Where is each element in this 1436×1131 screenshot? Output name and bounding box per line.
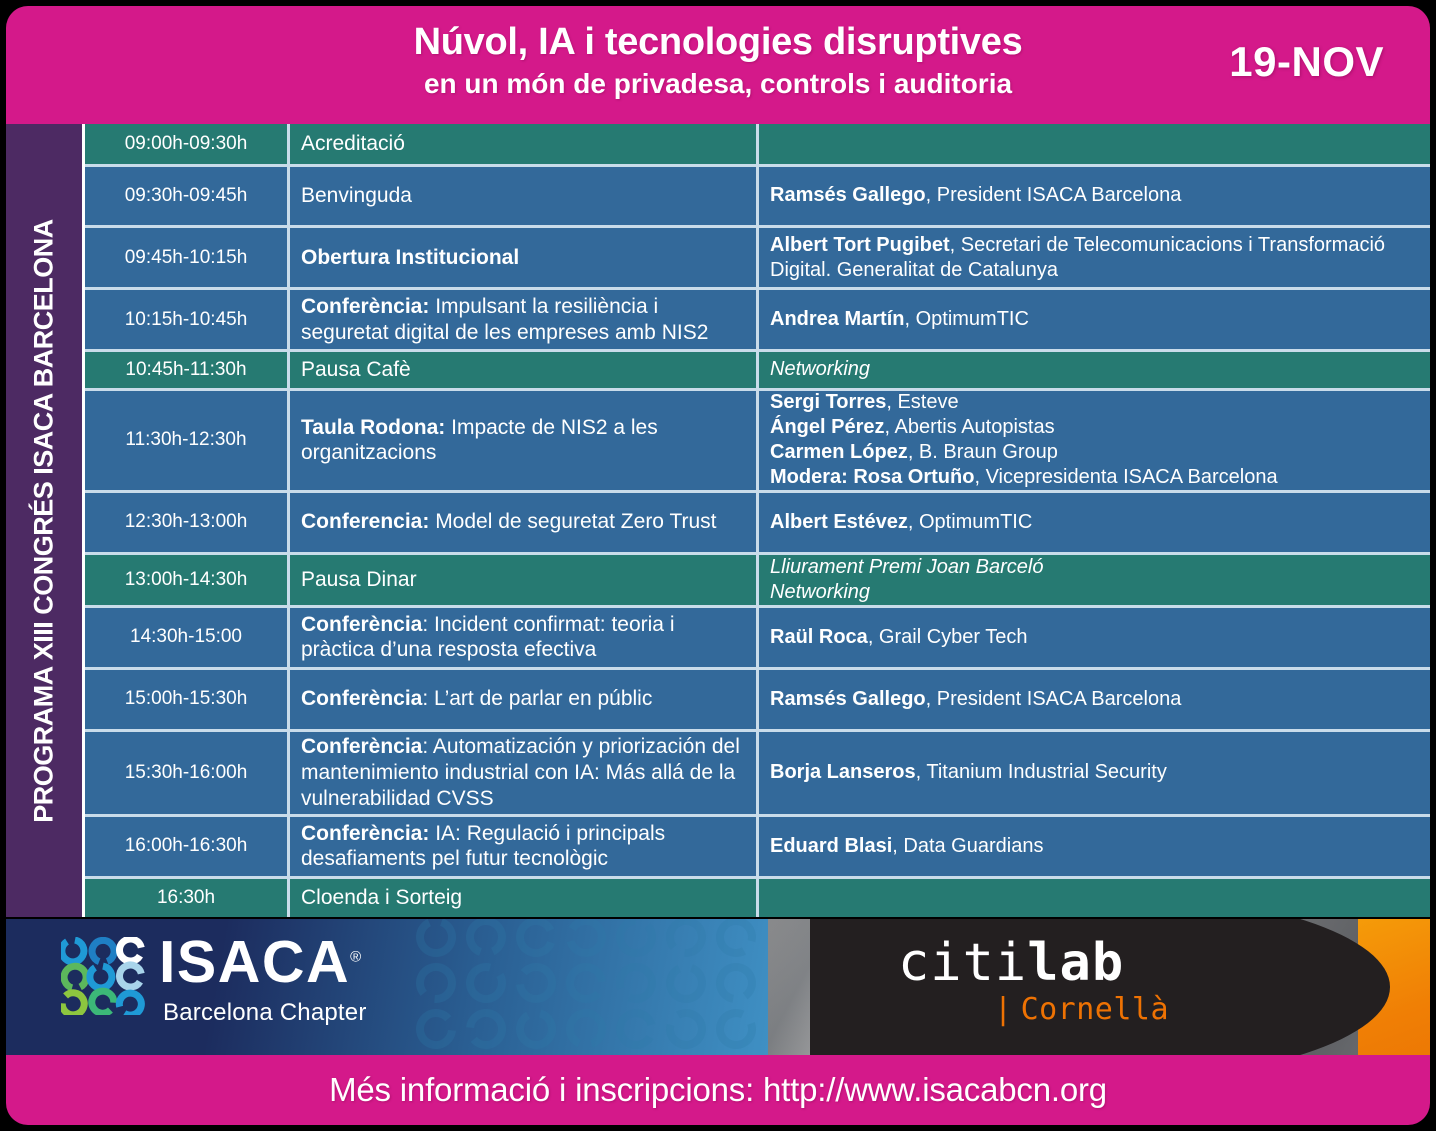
schedule-time-cell: 09:00h-09:30h [85,124,290,164]
speaker-name: Carmen López [770,441,908,463]
schedule-time-cell: 13:00h-14:30h [85,555,290,605]
citilab-city-line: |Cornellà [994,995,1169,1025]
speaker-name: Eduard Blasi [770,835,892,857]
speaker-line: Lliurament Premi Joan Barceló [770,555,1043,580]
program-body: PROGRAMA XIII CONGRÉS ISACA BARCELONA 09… [6,124,1430,917]
schedule-topic-prefix: Obertura Institucional [301,246,519,269]
sidebar-vertical-label: PROGRAMA XIII CONGRÉS ISACA BARCELONA [29,219,60,823]
schedule-topic-cell: Obertura Institucional [290,228,759,287]
footer-info-text: Més informació i inscripcions: http://ww… [329,1071,1107,1109]
schedule-topic-cell: Conferència: Impulsant la resiliència i … [290,290,759,349]
schedule-topic-text: Benvinguda [301,183,412,209]
isaca-mark-icon [61,937,145,1015]
schedule-time-cell: 15:00h-15:30h [85,670,290,729]
header-titles: Núvol, IA i tecnologies disruptives en u… [6,22,1430,100]
schedule-topic-text: Conferència: IA: Regulació i principals … [301,821,746,872]
speaker-list: Ramsés Gallego, President ISACA Barcelon… [770,687,1181,712]
schedule-topic-cell: Pausa Dinar [290,555,759,605]
schedule-topic-prefix: Conferència: [301,822,429,845]
speaker-line: Carmen López, B. Braun Group [770,440,1278,465]
speaker-list: Eduard Blasi, Data Guardians [770,834,1043,859]
schedule-speaker-cell [759,124,1430,164]
schedule-time-cell: 11:30h-12:30h [85,391,290,490]
speaker-line: Ramsés Gallego, President ISACA Barcelon… [770,687,1181,712]
citilab-logo-panel: citilab |Cornellà [768,919,1430,1055]
schedule-time-cell: 16:30h [85,879,290,917]
schedule-time-cell: 16:00h-16:30h [85,817,290,876]
schedule-speaker-cell [759,879,1430,917]
speaker-name: Andrea Martín [770,308,904,330]
schedule-row: 10:15h-10:45hConferència: Impulsant la r… [85,290,1430,352]
registered-icon: ® [350,948,361,965]
schedule-topic-cell: Pausa Cafè [290,352,759,387]
schedule-topic-body: Pausa Dinar [301,568,417,591]
speaker-name: Ramsés Gallego [770,184,926,206]
schedule-time-cell: 10:45h-11:30h [85,352,290,387]
speaker-name: Ángel Pérez [770,416,884,438]
schedule-topic-text: Conferència: Impulsant la resiliència i … [301,294,746,345]
schedule-topic-text: Cloenda i Sorteig [301,885,462,911]
speaker-line: Borja Lanseros, Titanium Industrial Secu… [770,760,1167,785]
isaca-text-block: ISACA® Barcelona Chapter [159,933,367,1027]
speaker-name: Albert Estévez [770,511,908,533]
schedule-topic-prefix: Conferencia: [301,510,429,533]
schedule-speaker-cell: Ramsés Gallego, President ISACA Barcelon… [759,670,1430,729]
speaker-note: Lliurament Premi Joan Barceló [770,556,1043,578]
schedule-topic-cell: Conferència: Incident confirmat: teoria … [290,608,759,667]
speaker-name: Raül Roca [770,626,868,648]
schedule-topic-prefix: Conferència [301,687,422,710]
schedule-time-cell: 12:30h-13:00h [85,493,290,552]
schedule-time-cell: 10:15h-10:45h [85,290,290,349]
schedule-time-cell: 09:30h-09:45h [85,167,290,226]
schedule-row: 15:30h-16:00hConferència: Automatización… [85,732,1430,817]
schedule-time-cell: 14:30h-15:00 [85,608,290,667]
schedule-speaker-cell: Andrea Martín, OptimumTIC [759,290,1430,349]
citilab-logo: citilab |Cornellà [898,937,1169,1025]
schedule-speaker-cell: Ramsés Gallego, President ISACA Barcelon… [759,167,1430,226]
isaca-logo: ISACA® Barcelona Chapter [61,931,367,1027]
schedule-topic-text: Pausa Cafè [301,357,411,383]
schedule-topic-cell: Benvinguda [290,167,759,226]
speaker-list: Sergi Torres, EsteveÁngel Pérez, Abertis… [770,390,1278,491]
poster-header: Núvol, IA i tecnologies disruptives en u… [6,6,1430,124]
schedule-speaker-cell: Networking [759,352,1430,387]
schedule-topic-prefix: Conferència [301,613,422,636]
page-title: Núvol, IA i tecnologies disruptives [6,22,1430,63]
schedule-topic-text: Conferencia: Model de seguretat Zero Tru… [301,509,717,535]
speaker-name: Modera: Rosa Ortuño [770,466,974,488]
speaker-list: Ramsés Gallego, President ISACA Barcelon… [770,183,1181,208]
schedule-row: 12:30h-13:00hConferencia: Model de segur… [85,493,1430,555]
citilab-wordmark: citilab [898,937,1169,989]
schedule-row: 09:00h-09:30hAcreditació [85,124,1430,167]
speaker-list: Albert Tort Pugibet, Secretari de Teleco… [770,233,1420,283]
speaker-line: Andrea Martín, OptimumTIC [770,307,1029,332]
schedule-speaker-cell: Albert Estévez, OptimumTIC [759,493,1430,552]
schedule-row: 09:30h-09:45hBenvingudaRamsés Gallego, P… [85,167,1430,229]
schedule-topic-body: Pausa Cafè [301,358,411,381]
page-subtitle: en un món de privadesa, controls i audit… [6,67,1430,100]
schedule-topic-body: Model de seguretat Zero Trust [429,510,716,533]
speaker-note: Networking [770,581,870,603]
schedule-topic-body: Benvinguda [301,184,412,207]
speaker-line: Albert Tort Pugibet, Secretari de Teleco… [770,233,1420,283]
poster-footer: Més informació i inscripcions: http://ww… [6,1055,1430,1125]
speaker-line: Networking [770,357,870,382]
speaker-line: Albert Estévez, OptimumTIC [770,510,1032,535]
schedule-topic-text: Obertura Institucional [301,245,519,271]
schedule-row: 10:45h-11:30hPausa CafèNetworking [85,352,1430,390]
schedule-row: 15:00h-15:30hConferència: L’art de parla… [85,670,1430,732]
schedule-topic-prefix: Conferència: [301,295,429,318]
speaker-name: Sergi Torres [770,391,886,413]
schedule-speaker-cell: Sergi Torres, EsteveÁngel Pérez, Abertis… [759,391,1430,490]
schedule-row: 11:30h-12:30hTaula Rodona: Impacte de NI… [85,391,1430,493]
speaker-list: Raül Roca, Grail Cyber Tech [770,625,1028,650]
schedule-topic-text: Conferència: L’art de parlar en públic [301,686,652,712]
speaker-list: Andrea Martín, OptimumTIC [770,307,1029,332]
schedule-topic-body: Acreditació [301,132,405,155]
citilab-word-bold: lab [1027,933,1124,993]
speaker-role: , OptimumTIC [908,511,1032,533]
schedule-topic-cell: Conferència: L’art de parlar en públic [290,670,759,729]
schedule-speaker-cell: Borja Lanseros, Titanium Industrial Secu… [759,732,1430,814]
speaker-line: Eduard Blasi, Data Guardians [770,834,1043,859]
poster-root: Núvol, IA i tecnologies disruptives en u… [0,0,1436,1131]
schedule-topic-prefix: Taula Rodona: [301,416,445,439]
schedule-row: 13:00h-14:30hPausa DinarLliurament Premi… [85,555,1430,608]
citilab-divider-icon: | [994,995,1013,1025]
speaker-line: Sergi Torres, Esteve [770,390,1278,415]
speaker-role: , B. Braun Group [908,441,1058,463]
event-date-badge: 19-NOV [1229,38,1384,86]
schedule-speaker-cell: Raül Roca, Grail Cyber Tech [759,608,1430,667]
schedule-topic-text: Conferència: Incident confirmat: teoria … [301,612,746,663]
speaker-line: Networking [770,580,1043,605]
schedule-row: 16:00h-16:30hConferència: IA: Regulació … [85,817,1430,879]
schedule-topic-cell: Conferència: IA: Regulació i principals … [290,817,759,876]
schedule-speaker-cell: Eduard Blasi, Data Guardians [759,817,1430,876]
speaker-name: Ramsés Gallego [770,688,926,710]
isaca-chapter-label: Barcelona Chapter [163,999,367,1027]
speaker-note: Networking [770,358,870,380]
schedule-speaker-cell: Lliurament Premi Joan BarcelóNetworking [759,555,1430,605]
isaca-wordmark: ISACA® [159,933,367,992]
schedule-topic-text: Taula Rodona: Impacte de NIS2 a les orga… [301,415,746,466]
isaca-wordmark-text: ISACA [159,929,350,995]
schedule-topic-cell: Conferencia: Model de seguretat Zero Tru… [290,493,759,552]
program-sidebar: PROGRAMA XIII CONGRÉS ISACA BARCELONA [6,124,85,917]
schedule-time-cell: 09:45h-10:15h [85,228,290,287]
schedule-row: 09:45h-10:15hObertura InstitucionalAlber… [85,228,1430,290]
speaker-line: Modera: Rosa Ortuño, Vicepresidenta ISAC… [770,465,1278,490]
schedule-topic-body: Cloenda i Sorteig [301,886,462,909]
speaker-role: , Vicepresidenta ISACA Barcelona [974,466,1277,488]
schedule-topic-body: : L’art de parlar en públic [422,687,652,710]
speaker-list: Albert Estévez, OptimumTIC [770,510,1032,535]
speaker-list: Networking [770,357,870,382]
speaker-line: Ángel Pérez, Abertis Autopistas [770,415,1278,440]
speaker-list: Borja Lanseros, Titanium Industrial Secu… [770,760,1167,785]
speaker-name: Borja Lanseros [770,761,916,783]
isaca-logo-panel: ISACA® Barcelona Chapter [6,919,768,1055]
speaker-name: Albert Tort Pugibet [770,234,950,256]
schedule-topic-text: Acreditació [301,131,405,157]
schedule-topic-cell: Taula Rodona: Impacte de NIS2 a les orga… [290,391,759,490]
schedule-topic-text: Pausa Dinar [301,567,417,593]
schedule-topic-prefix: Conferència [301,735,422,758]
schedule-topic-cell: Cloenda i Sorteig [290,879,759,917]
schedule-speaker-cell: Albert Tort Pugibet, Secretari de Teleco… [759,228,1430,287]
schedule-table: 09:00h-09:30hAcreditació09:30h-09:45hBen… [85,124,1430,917]
speaker-role: , President ISACA Barcelona [926,184,1182,206]
schedule-topic-cell: Acreditació [290,124,759,164]
speaker-role: , Titanium Industrial Security [916,761,1167,783]
speaker-list: Lliurament Premi Joan BarcelóNetworking [770,555,1043,605]
schedule-topic-text: Conferència: Automatización y priorizaci… [301,734,746,811]
speaker-role: , Esteve [886,391,958,413]
speaker-role: , Data Guardians [892,835,1043,857]
schedule-row: 16:30hCloenda i Sorteig [85,879,1430,917]
citilab-city-label: Cornellà [1021,992,1170,1027]
sponsor-logo-strip: ISACA® Barcelona Chapter citilab |Cornel… [6,919,1430,1055]
schedule-topic-cell: Conferència: Automatización y priorizaci… [290,732,759,814]
schedule-time-cell: 15:30h-16:00h [85,732,290,814]
speaker-line: Raül Roca, Grail Cyber Tech [770,625,1028,650]
schedule-row: 14:30h-15:00Conferència: Incident confir… [85,608,1430,670]
speaker-role: , OptimumTIC [904,308,1028,330]
citilab-word-light: citi [898,933,1027,993]
speaker-role: , Abertis Autopistas [884,416,1054,438]
speaker-role: , President ISACA Barcelona [926,688,1182,710]
speaker-role: , Grail Cyber Tech [868,626,1028,648]
speaker-line: Ramsés Gallego, President ISACA Barcelon… [770,183,1181,208]
